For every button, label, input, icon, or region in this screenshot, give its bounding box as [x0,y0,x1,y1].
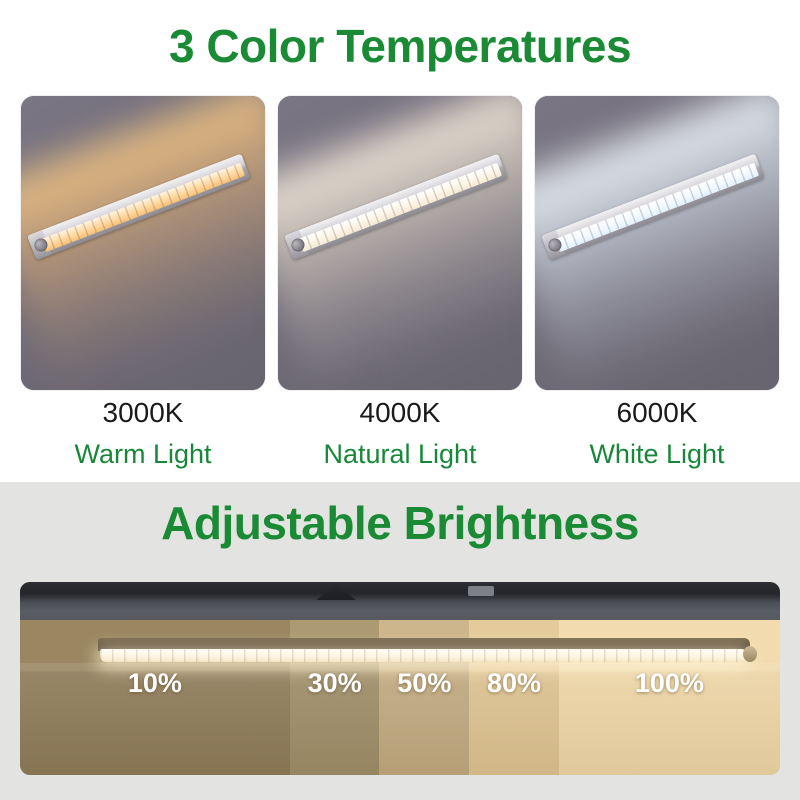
counter-surface [469,663,559,775]
color-temperature-caption: 6000K White Light [534,396,780,472]
color-temperature-panel-list [20,95,780,391]
counter-surface [20,663,290,775]
cabinet-shelf [20,582,780,620]
led-light-bar-horizontal [98,638,750,664]
color-temperature-photo-warm [20,95,266,391]
product-feature-page: 3 Color Temperatures [0,0,800,800]
counter-surface [290,663,380,775]
bar-end-cap [743,646,757,662]
color-temperature-photo-natural [277,95,523,391]
kelvin-label: 6000K [534,396,780,430]
led-emitter-strip [100,649,746,662]
light-name-label: Warm Light [20,436,266,472]
color-temperature-section: 3 Color Temperatures [0,0,800,482]
counter-surface [379,663,469,775]
light-name-label: White Light [534,436,780,472]
color-temperature-heading: 3 Color Temperatures [0,19,800,73]
adjustable-brightness-heading: Adjustable Brightness [0,496,800,550]
adjustable-brightness-section: Adjustable Brightness 10%30%50%80%100% [0,482,800,800]
counter-surface [559,663,780,775]
light-name-label: Natural Light [277,436,523,472]
kelvin-label: 4000K [277,396,523,430]
color-temperature-photo-white [534,95,780,391]
brightness-photo [20,582,780,775]
cabinet-gloss [20,582,780,599]
kelvin-label: 3000K [20,396,266,430]
color-temperature-caption: 4000K Natural Light [277,396,523,472]
color-temperature-caption-list: 3000K Warm Light 4000K Natural Light 600… [20,396,780,472]
color-temperature-caption: 3000K Warm Light [20,396,266,472]
cabinet-handle [468,586,494,596]
